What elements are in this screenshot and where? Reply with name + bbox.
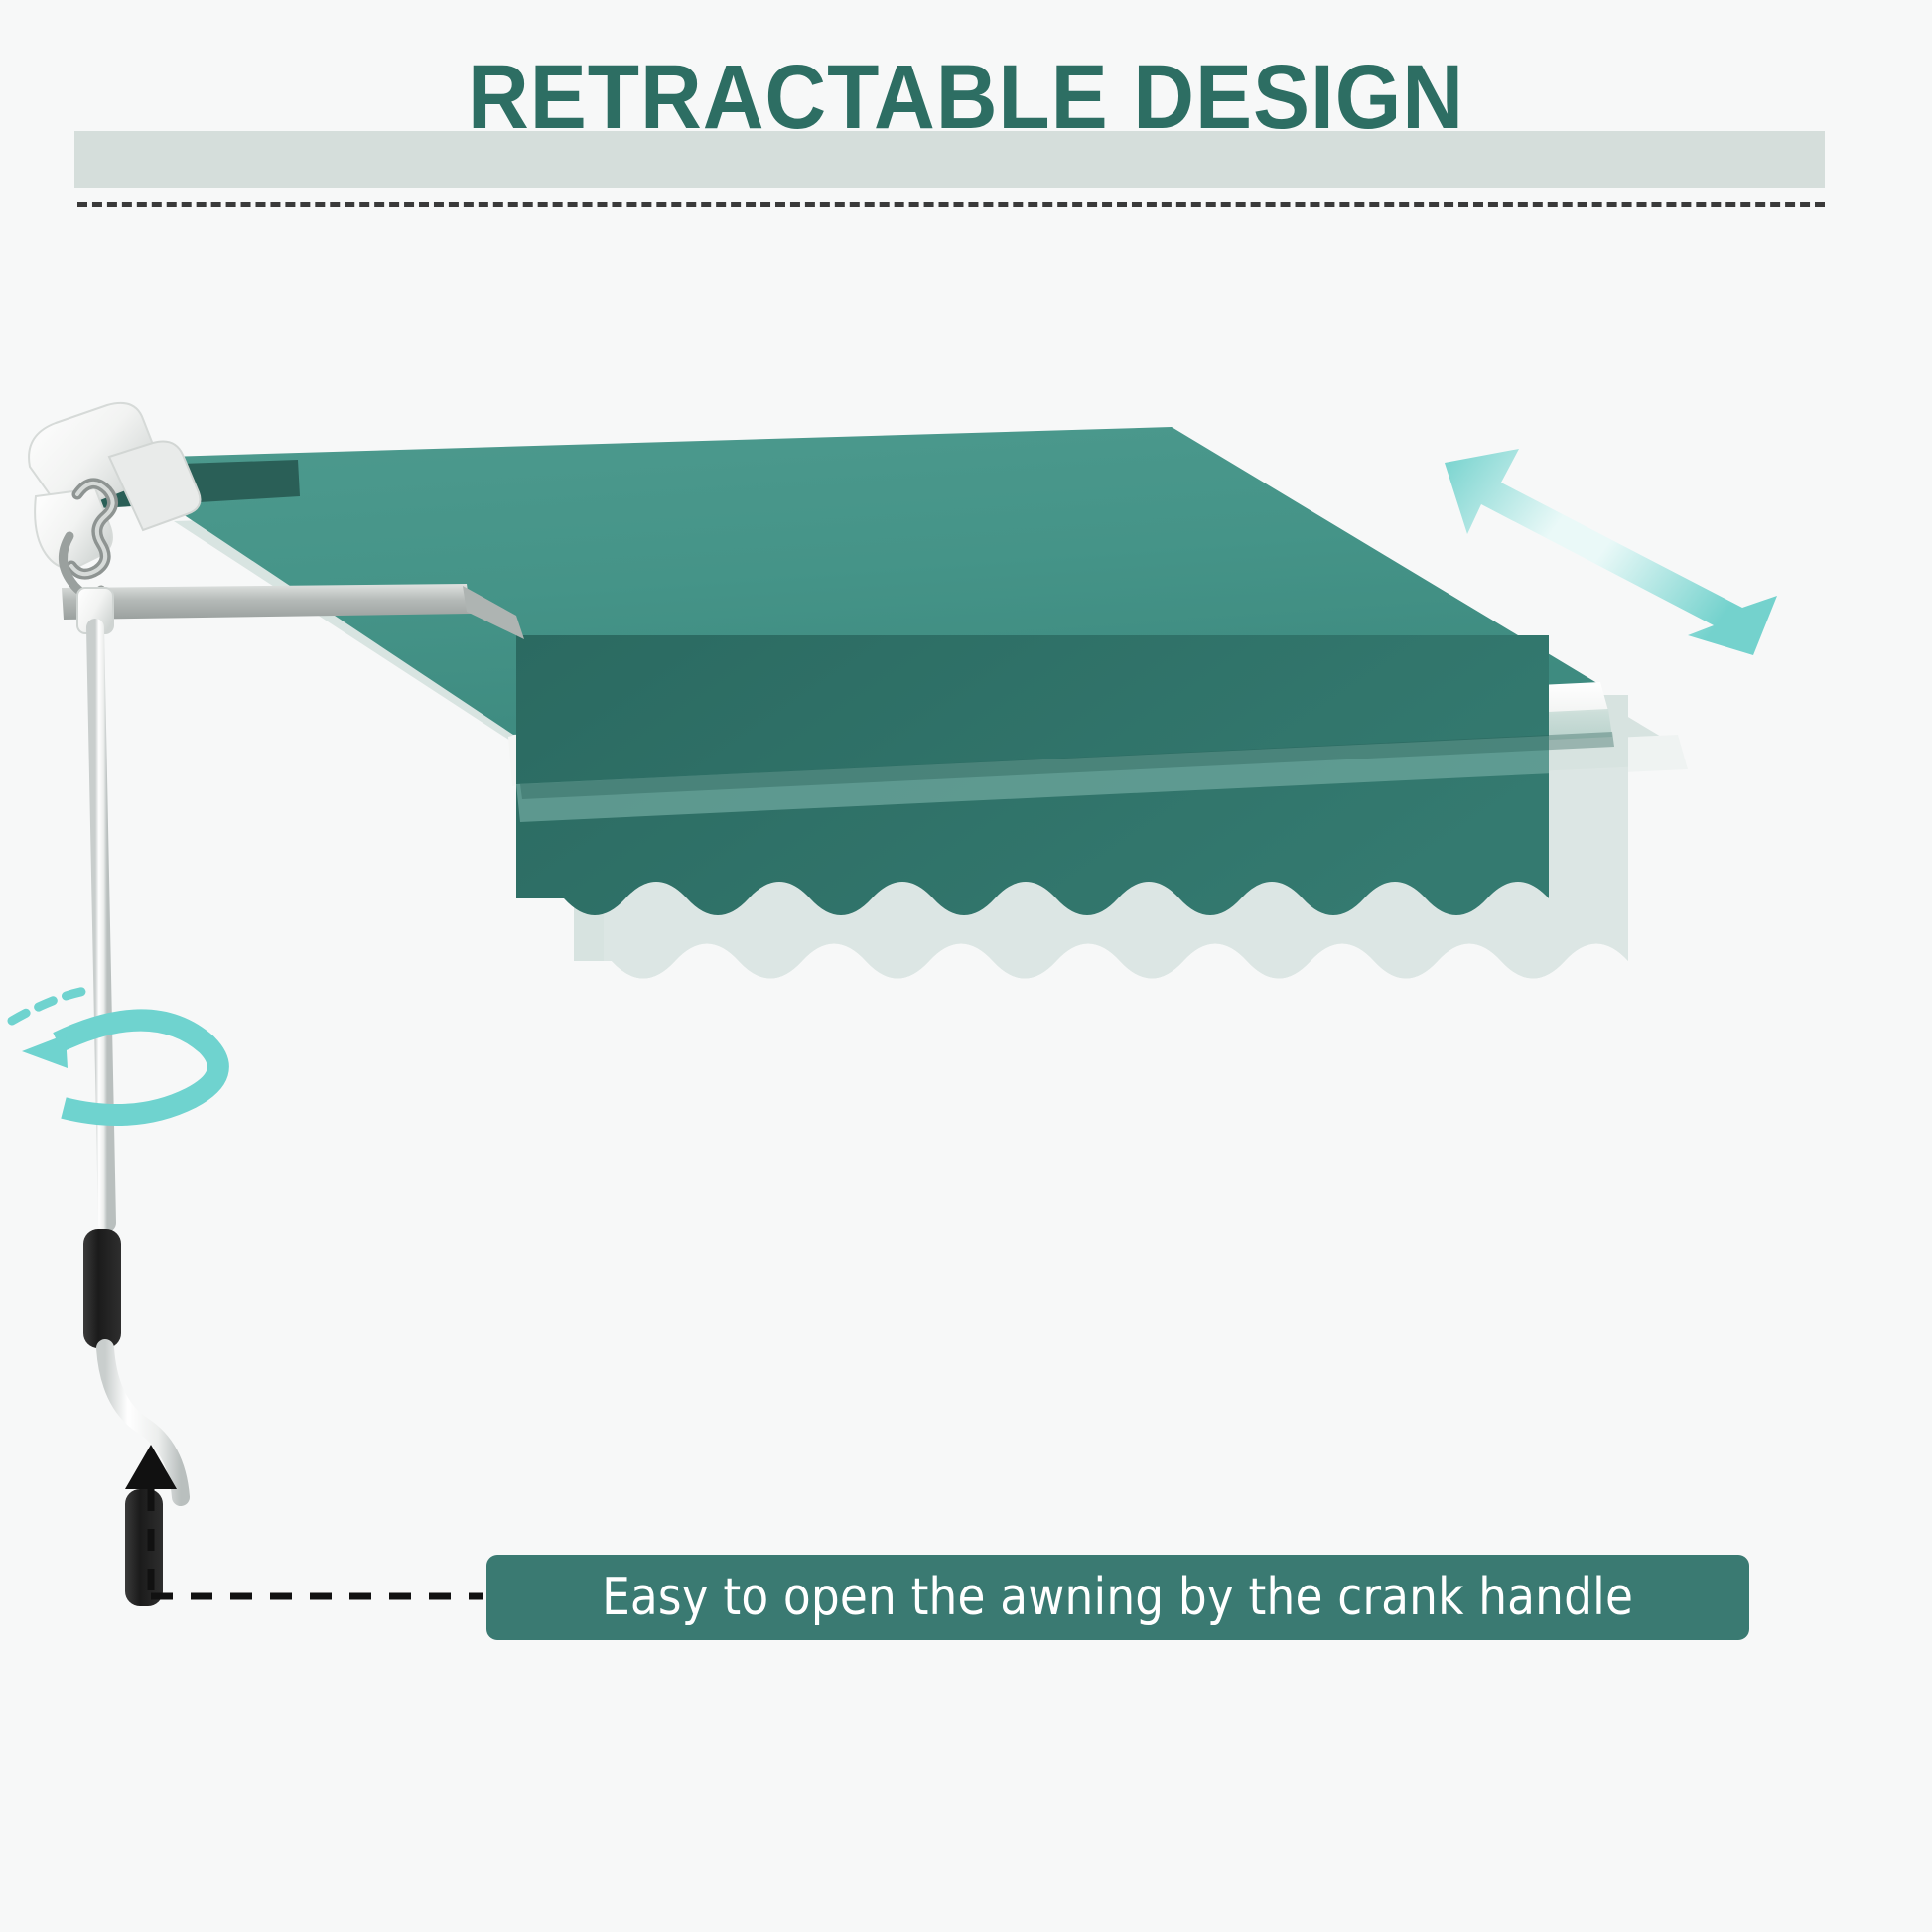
- crank-grip-lower: [125, 1489, 163, 1606]
- caption-banner: Easy to open the awning by the crank han…: [486, 1555, 1749, 1640]
- infographic-page: RETRACTABLE DESIGN: [0, 0, 1932, 1932]
- crank-rod-upper: [95, 627, 107, 1223]
- crank-rotation-arrow: [12, 991, 218, 1115]
- crank-grip-upper: [83, 1229, 121, 1348]
- support-arm: [62, 584, 471, 620]
- caption-text: Easy to open the awning by the crank han…: [602, 1568, 1633, 1627]
- product-illustration: [0, 0, 1932, 1932]
- end-cap-inner: [109, 442, 201, 531]
